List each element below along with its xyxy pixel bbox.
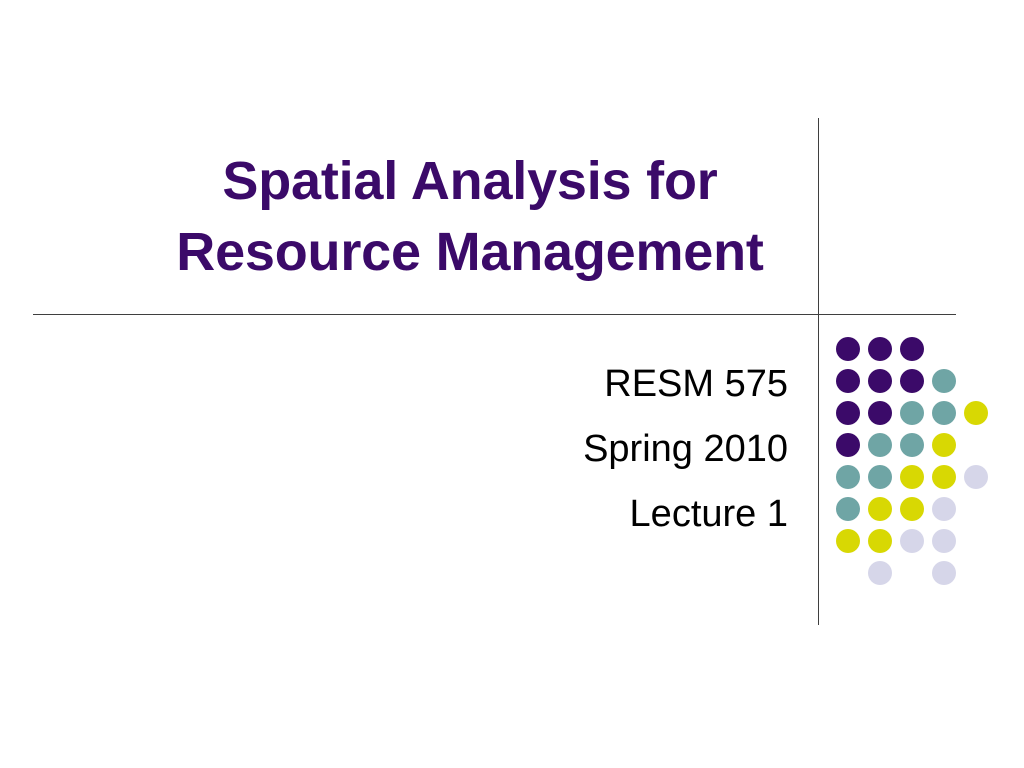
decoration-dot: [868, 561, 892, 585]
decoration-dot: [900, 369, 924, 393]
subtitle-term: Spring 2010: [330, 417, 788, 482]
decoration-dot: [836, 497, 860, 521]
decoration-dot: [868, 369, 892, 393]
slide-title: Spatial Analysis for Resource Management: [120, 146, 820, 288]
decoration-dot: [836, 433, 860, 457]
decoration-dot: [868, 529, 892, 553]
decoration-dot: [900, 337, 924, 361]
subtitle-course-code: RESM 575: [330, 352, 788, 417]
decoration-dot: [868, 401, 892, 425]
decoration-dot: [868, 465, 892, 489]
decoration-dot: [836, 465, 860, 489]
subtitle-lecture-number: Lecture 1: [330, 482, 788, 547]
decoration-dot: [932, 465, 956, 489]
decoration-dot: [868, 497, 892, 521]
decoration-dot: [900, 497, 924, 521]
decoration-dot: [836, 401, 860, 425]
decoration-dot: [932, 433, 956, 457]
decoration-dot: [932, 369, 956, 393]
decoration-dot: [900, 529, 924, 553]
slide-title-line-1: Spatial Analysis for: [120, 146, 820, 217]
decoration-dot: [900, 465, 924, 489]
decoration-dot: [964, 465, 988, 489]
decoration-dot: [868, 337, 892, 361]
decoration-dot: [836, 369, 860, 393]
presentation-title-slide: Spatial Analysis for Resource Management…: [0, 0, 1024, 768]
slide-subtitle: RESM 575 Spring 2010 Lecture 1: [330, 352, 788, 547]
decoration-dot: [964, 401, 988, 425]
dot-grid-decoration: [836, 337, 1001, 587]
decoration-dot: [900, 433, 924, 457]
decoration-dot: [868, 433, 892, 457]
slide-title-line-2: Resource Management: [120, 217, 820, 288]
decoration-dot: [836, 529, 860, 553]
decoration-dot: [836, 337, 860, 361]
decoration-dot: [900, 401, 924, 425]
decoration-dot: [932, 561, 956, 585]
decoration-dot: [932, 401, 956, 425]
decoration-dot: [932, 529, 956, 553]
decoration-dot: [932, 497, 956, 521]
